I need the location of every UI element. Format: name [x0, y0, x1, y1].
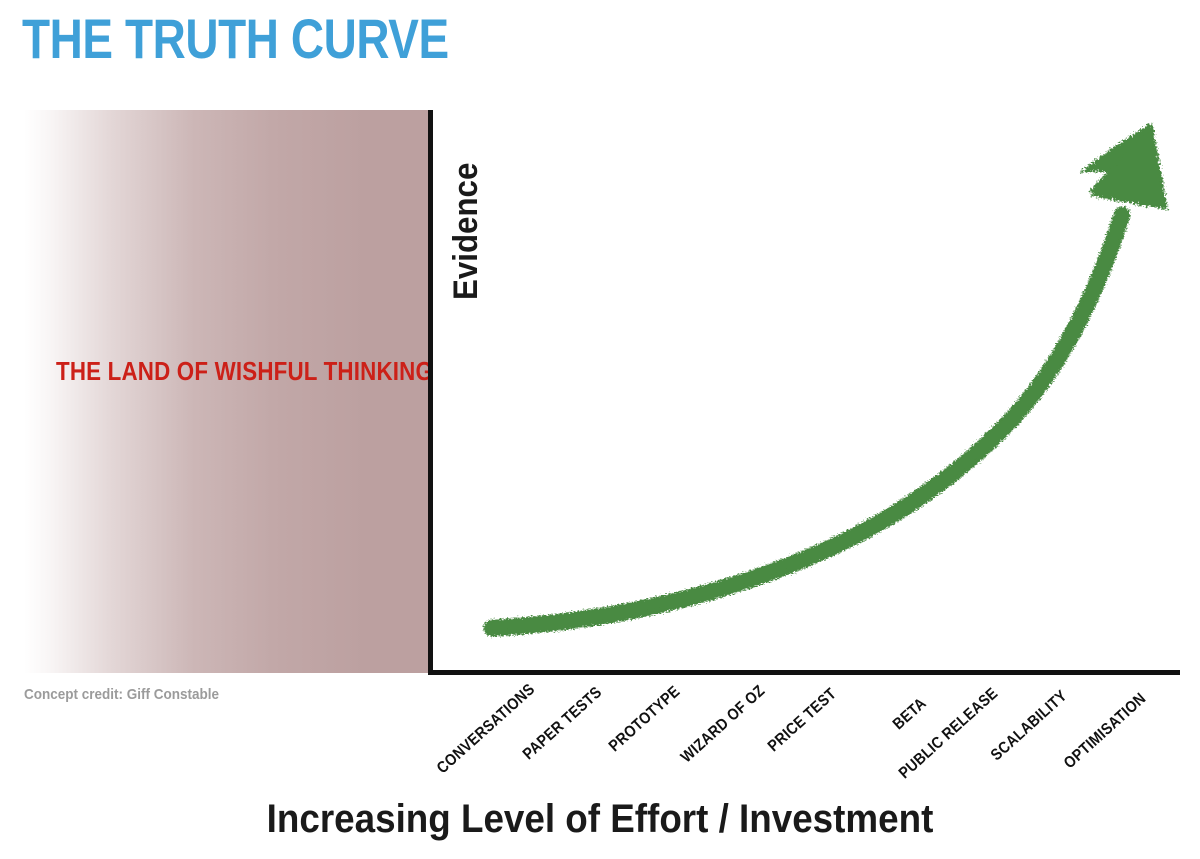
wishful-thinking-region — [24, 110, 428, 673]
x-tick-label: PRICE TEST — [765, 685, 841, 756]
x-tick-label: WIZARD OF OZ — [678, 682, 769, 767]
page-title: THE TRUTH CURVE — [22, 10, 449, 69]
truth-curve-infographic: THE TRUTH CURVE THE LAND OF WISHFUL THIN… — [0, 0, 1200, 859]
x-axis-title: Increasing Level of Effort / Investment — [267, 797, 934, 842]
x-tick-label: PROTOTYPE — [606, 683, 684, 756]
y-axis-line — [428, 110, 433, 675]
concept-credit: Concept credit: Giff Constable — [24, 686, 219, 703]
x-tick-label: OPTIMISATION — [1061, 690, 1150, 773]
y-axis-title: Evidence — [447, 163, 486, 300]
x-tick-label: CONVERSATIONS — [434, 681, 539, 778]
x-axis-line — [428, 670, 1180, 675]
wishful-thinking-label: THE LAND OF WISHFUL THINKING — [56, 356, 433, 387]
x-tick-label: BETA — [890, 695, 931, 734]
